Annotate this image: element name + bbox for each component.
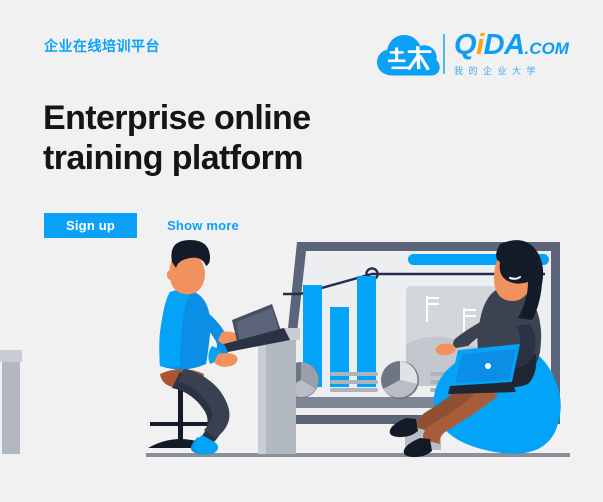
pie-widget-2 [381,361,419,399]
text-lines-1 [330,372,378,392]
hero-illustration [0,232,603,472]
logo-word-da: DA [484,29,525,61]
cloud-logo-icon [374,30,440,78]
logo-word-q: Q [454,29,476,61]
brand-logo[interactable]: QiDA.COM 我的企业大学 [374,28,570,80]
hero-banner: 企业在线培训平台 QiDA.COM 我的企业大学 Enterprise onli… [0,0,603,502]
logo-tagline: 我的企业大学 [454,64,569,77]
logo-word-i: i [476,29,484,61]
eyebrow-text: 企业在线培训平台 [44,36,160,56]
page-title: Enterprise online training platform [43,99,343,179]
bar-3 [357,276,376,387]
woman-laptop [448,344,520,394]
lectern [0,328,300,454]
logo-wordmark: QiDA.COM [454,31,569,60]
show-more-link[interactable]: Show more [167,218,239,233]
logo-divider [443,34,445,74]
man-ear [167,270,173,280]
logo-word-dotcom: .COM [525,39,569,58]
man-hand-lower [214,353,237,367]
